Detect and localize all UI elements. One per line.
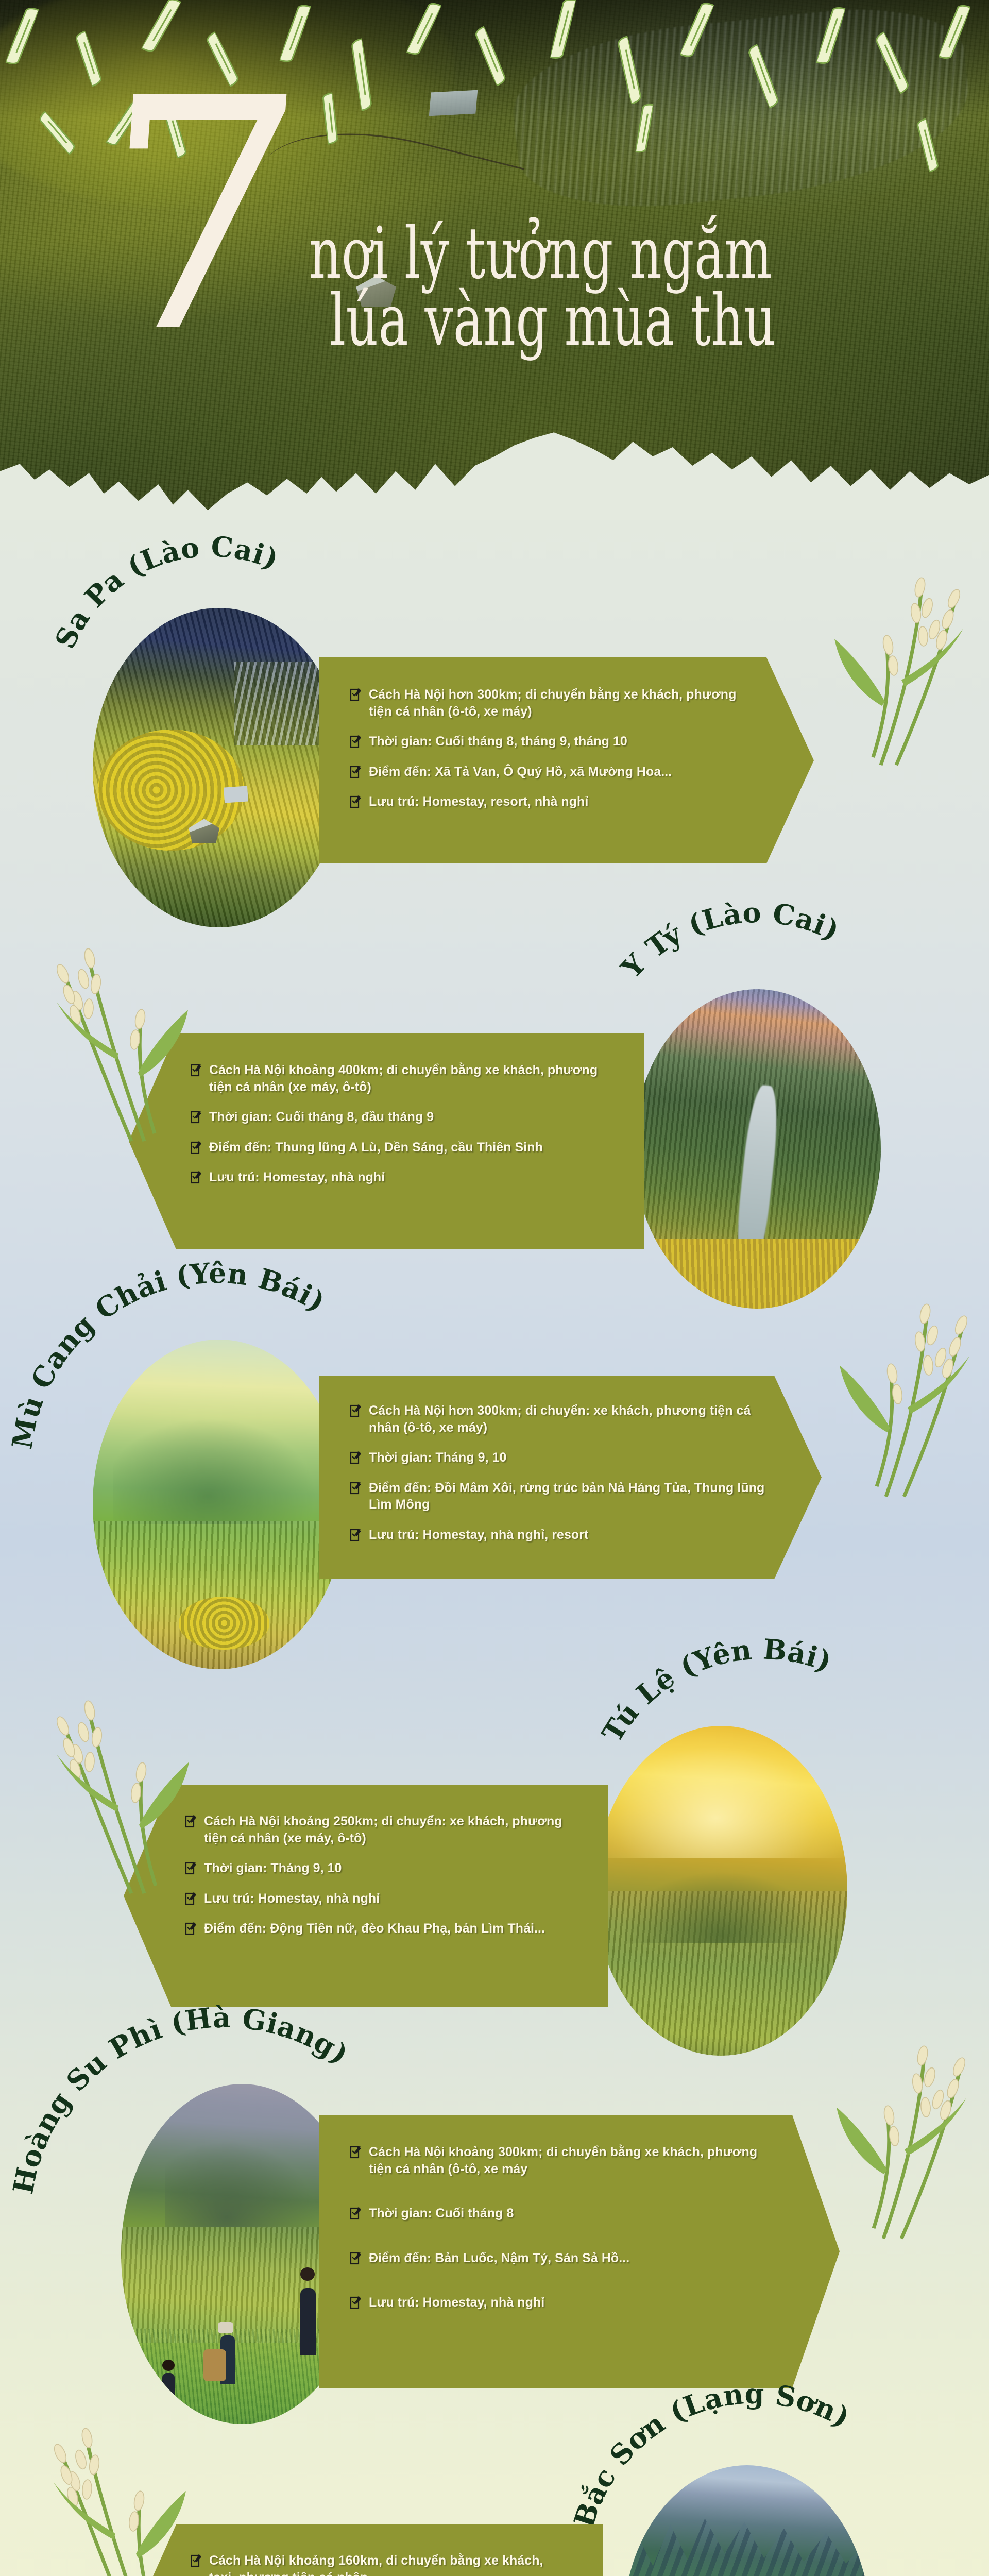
place-title-text: Y Tý (Lào Cai) [615,896,845,985]
list-item: Điểm đến: Bản Luốc, Nậm Tý, Sán Sả Hồ... [350,2250,783,2267]
list-item: Cách Hà Nội khoảng 400km; di chuyển bằng… [191,1062,613,1095]
rice-stalk-decoration [824,2020,989,2241]
list-item-text: Điểm đến: Động Tiên nữ, đèo Khau Phạ, bả… [204,1920,545,1937]
list-item-text: Lưu trú: Homestay, resort, nhà nghỉ [369,793,588,810]
hero-title-group: 7 nơi lý tưởng ngắm lúa vàng mùa thu [0,31,989,443]
info-panel-hoang-su-phi: Cách Hà Nội khoảng 300km; di chuyển bằng… [319,2115,840,2388]
photo-y-ty [634,989,881,1309]
list-item-text: Điểm đến: Đồi Mâm Xôi, rừng trúc bản Nả … [369,1480,765,1513]
list-item: Điểm đến: Thung lũng A Lù, Dền Sáng, cầu… [191,1139,613,1156]
list-item: Thời gian: Cuối tháng 8, đầu tháng 9 [191,1109,613,1126]
section-hoang-su-phi: Hoàng Su Phì (Hà Giang) Cách Hà Nội khoả… [0,2025,989,2416]
section-sa-pa: Sa Pa (Lào Cai) Cách Hà Nội hơn 300km; d… [0,526,989,907]
checklist-pencil-icon [350,688,362,701]
list-item-text: Lưu trú: Homestay, nhà nghỉ [204,1890,380,1907]
list-item: Thời gian: Tháng 9, 10 [185,1860,577,1877]
rice-stalk-decoration [829,1278,989,1499]
svg-text:Y Tý (Lào Cai): Y Tý (Lào Cai) [615,896,845,985]
checklist-pencil-icon [185,1922,197,1935]
section-mu-cang-chai: Mù Cang Chải (Yên Bái) Cách Hà Nội hơn 3… [0,1273,989,1654]
photo-sa-pa [93,608,345,927]
checklist-pencil-icon [350,2251,362,2265]
list-item-text: Điểm đến: Bản Luốc, Nậm Tý, Sán Sả Hồ... [369,2250,629,2267]
list-item-text: Lưu trú: Homestay, nhà nghỉ [209,1169,385,1186]
list-item-text: Điểm đến: Thung lũng A Lù, Dền Sáng, cầu… [209,1139,543,1156]
checklist-pencil-icon [191,1063,202,1077]
checklist-pencil-icon [350,1451,362,1464]
list-item-text: Thời gian: Cuối tháng 8, đầu tháng 9 [209,1109,434,1126]
hero-number-7: 7 [89,93,294,342]
list-item: Lưu trú: Homestay, resort, nhà nghỉ [350,793,757,810]
list-item: Cách Hà Nội khoảng 300km; di chuyển bằng… [350,2144,783,2177]
list-item: Điểm đến: Đồi Mâm Xôi, rừng trúc bản Nả … [350,1480,765,1513]
checklist-pencil-icon [350,735,362,748]
bullet-list-y-ty: Cách Hà Nội khoảng 400km; di chuyển bằng… [191,1062,613,1186]
list-item-text: Cách Hà Nội khoảng 300km; di chuyển bằng… [369,2144,783,2177]
checklist-pencil-icon [350,795,362,808]
hero-title-line-2: lúa vàng mùa thu [330,280,776,362]
checklist-pencil-icon [350,2296,362,2309]
list-item-text: Điểm đến: Xã Tả Van, Ô Quý Hồ, xã Mường … [369,764,672,781]
info-panel-y-ty: Cách Hà Nội khoảng 400km; di chuyển bằng… [129,1033,644,1249]
bullet-list-sa-pa: Cách Hà Nội hơn 300km; di chuyển bằng xe… [350,686,757,810]
list-item-text: Cách Hà Nội khoảng 160km, di chuyển bằng… [209,2552,572,2576]
info-panel-mu-cang-chai: Cách Hà Nội hơn 300km; di chuyển: xe khá… [319,1376,822,1579]
list-item-text: Thời gian: Cuối tháng 8 [369,2205,514,2222]
list-item-text: Thời gian: Tháng 9, 10 [369,1449,507,1466]
list-item-text: Lưu trú: Homestay, nhà nghỉ [369,2294,544,2311]
checklist-pencil-icon [350,2145,362,2159]
checklist-pencil-icon [191,1110,202,1124]
checklist-pencil-icon [350,765,362,778]
photo-mu-cang-chai [93,1340,345,1669]
hero-banner: 7 nơi lý tưởng ngắm lúa vàng mùa thu [0,0,989,520]
rice-stalk-decoration [824,551,979,768]
list-item: Thời gian: Cuối tháng 8, tháng 9, tháng … [350,733,757,750]
bullet-list-hoang-su-phi: Cách Hà Nội khoảng 300km; di chuyển bằng… [350,2144,783,2311]
section-y-ty: Y Tý (Lào Cai) Cách Hà Nội khoảng 400km;… [0,907,989,1288]
list-item: Cách Hà Nội khoảng 160km, di chuyển bằng… [191,2552,572,2576]
checklist-pencil-icon [185,1892,197,1905]
info-panel-bac-son: Cách Hà Nội khoảng 160km, di chuyển bằng… [129,2524,603,2576]
list-item-text: Cách Hà Nội hơn 300km; di chuyển: xe khá… [369,1402,765,1436]
list-item: Cách Hà Nội hơn 300km; di chuyển bằng xe… [350,686,757,720]
list-item: Điểm đến: Động Tiên nữ, đèo Khau Phạ, bả… [185,1920,577,1937]
list-item: Lưu trú: Homestay, nhà nghỉ [185,1890,577,1907]
checklist-pencil-icon [191,1171,202,1184]
checklist-pencil-icon [185,1815,197,1828]
list-item: Thời gian: Cuối tháng 8 [350,2205,783,2222]
bullet-list-mu-cang-chai: Cách Hà Nội hơn 300km; di chuyển: xe khá… [350,1402,765,1543]
checklist-pencil-icon [191,2554,202,2567]
photo-tu-le [595,1726,847,2056]
checklist-pencil-icon [185,1861,197,1875]
photo-bac-son [623,2465,871,2576]
list-item-text: Cách Hà Nội hơn 300km; di chuyển bằng xe… [369,686,757,720]
checklist-pencil-icon [350,1481,362,1495]
checklist-pencil-icon [350,2207,362,2220]
list-item-text: Thời gian: Tháng 9, 10 [204,1860,342,1877]
bullet-list-bac-son: Cách Hà Nội khoảng 160km, di chuyển bằng… [191,2552,572,2576]
list-item: Lưu trú: Homestay, nhà nghỉ [350,2294,783,2311]
list-item-text: Cách Hà Nội khoảng 250km; di chuyển: xe … [204,1813,577,1846]
list-item: Lưu trú: Homestay, nhà nghỉ [191,1169,613,1186]
section-bac-son: Bắc Sơn (Lạng Sơn) Cách Hà Nội khoảng 16… [0,2380,989,2576]
list-item: Điểm đến: Xã Tả Van, Ô Quý Hồ, xã Mường … [350,764,757,781]
list-item: Cách Hà Nội hơn 300km; di chuyển: xe khá… [350,1402,765,1436]
list-item-text: Thời gian: Cuối tháng 8, tháng 9, tháng … [369,733,627,750]
checklist-pencil-icon [191,1141,202,1154]
info-panel-tu-le: Cách Hà Nội khoảng 250km; di chuyển: xe … [124,1785,608,2007]
list-item-text: Cách Hà Nội khoảng 400km; di chuyển bằng… [209,1062,613,1095]
checklist-pencil-icon [350,1528,362,1541]
section-tu-le: Tú Lệ (Yên Bái) Cách Hà Nội khoảng 250km… [0,1643,989,2035]
info-panel-sa-pa: Cách Hà Nội hơn 300km; di chuyển bằng xe… [319,657,814,863]
list-item: Cách Hà Nội khoảng 250km; di chuyển: xe … [185,1813,577,1846]
list-item-text: Lưu trú: Homestay, nhà nghỉ, resort [369,1527,588,1544]
bullet-list-tu-le: Cách Hà Nội khoảng 250km; di chuyển: xe … [185,1813,577,1937]
list-item: Lưu trú: Homestay, nhà nghỉ, resort [350,1527,765,1544]
checklist-pencil-icon [350,1404,362,1417]
list-item: Thời gian: Tháng 9, 10 [350,1449,765,1466]
